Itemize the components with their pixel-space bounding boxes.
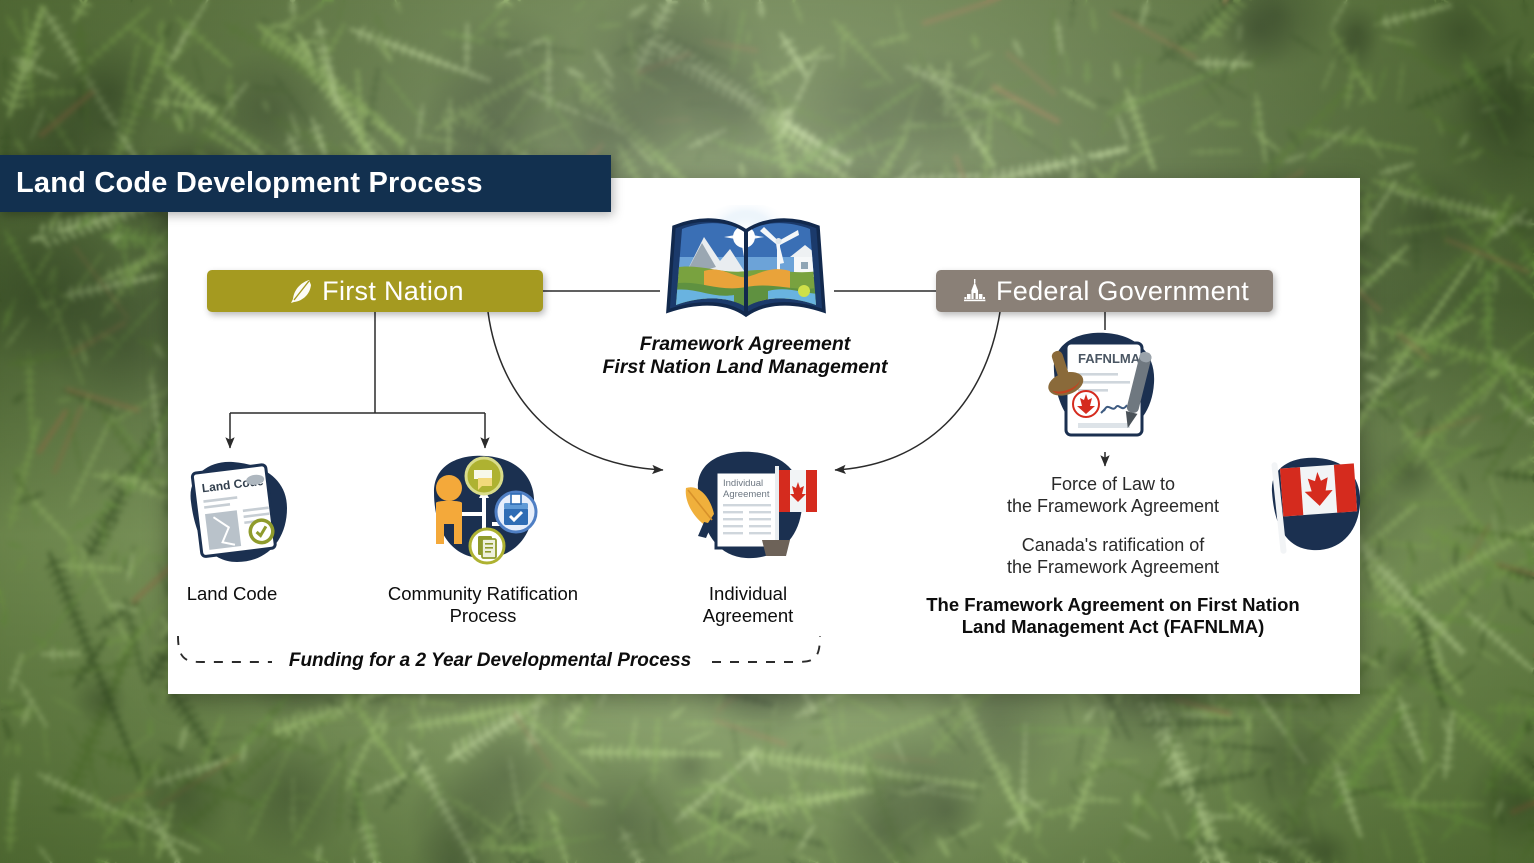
crp-label-line2: Process [370, 605, 596, 627]
open-book-landscape-icon [658, 205, 834, 330]
feather-icon [286, 276, 316, 306]
canada-ratification-caption: Canada's ratification of the Framework A… [950, 535, 1276, 578]
title-bar: Land Code Development Process [0, 155, 611, 212]
parliament-building-icon [960, 276, 990, 306]
ratification-line2: the Framework Agreement [950, 557, 1276, 579]
ia-label-line1: Individual [660, 583, 836, 605]
connector-lines [0, 0, 1534, 863]
fafnlma-document-icon: FAFNLMA [1032, 325, 1180, 453]
force-of-law-line2: the Framework Agreement [950, 496, 1276, 518]
page-title: Land Code Development Process [0, 167, 483, 200]
force-of-law-caption: Force of Law to the Framework Agreement [950, 474, 1276, 517]
framework-caption-line2: First Nation Land Management [540, 356, 950, 379]
framework-caption-line1: Framework Agreement [540, 333, 950, 356]
community-ratification-label: Community Ratification Process [370, 583, 596, 627]
community-ratification-icon [412, 448, 554, 570]
force-of-law-line1: Force of Law to [950, 474, 1276, 496]
crp-label-line1: Community Ratification [370, 583, 596, 605]
land-code-document-icon: Land Code [175, 452, 301, 572]
land-code-label: Land Code [152, 583, 312, 605]
individual-agreement-label: Individual Agreement [660, 583, 836, 627]
funding-note: Funding for a 2 Year Developmental Proce… [255, 650, 725, 673]
ia-label-line2: Agreement [660, 605, 836, 627]
canada-flag-icon [1258, 448, 1376, 560]
first-nation-label: First Nation [322, 276, 464, 307]
federal-government-header[interactable]: Federal Government [936, 270, 1273, 312]
act-line1: The Framework Agreement on First Nation [912, 594, 1314, 616]
ratification-line1: Canada's ratification of [950, 535, 1276, 557]
individual-agreement-doc-title-line2: Agreement [723, 489, 770, 500]
framework-agreement-caption: Framework Agreement First Nation Land Ma… [540, 333, 950, 380]
federal-government-label: Federal Government [996, 276, 1249, 307]
fafnlma-doc-title: FAFNLMA [1078, 351, 1141, 366]
diagram-stage: First Nation Federal Government [0, 0, 1534, 863]
individual-agreement-doc-title-line1: Individual [723, 478, 763, 489]
first-nation-header[interactable]: First Nation [207, 270, 543, 312]
individual-agreement-icon: Individual Agreement [676, 444, 828, 574]
act-line2: Land Management Act (FAFNLMA) [912, 616, 1314, 638]
fafnlma-act-caption: The Framework Agreement on First Nation … [912, 594, 1314, 638]
